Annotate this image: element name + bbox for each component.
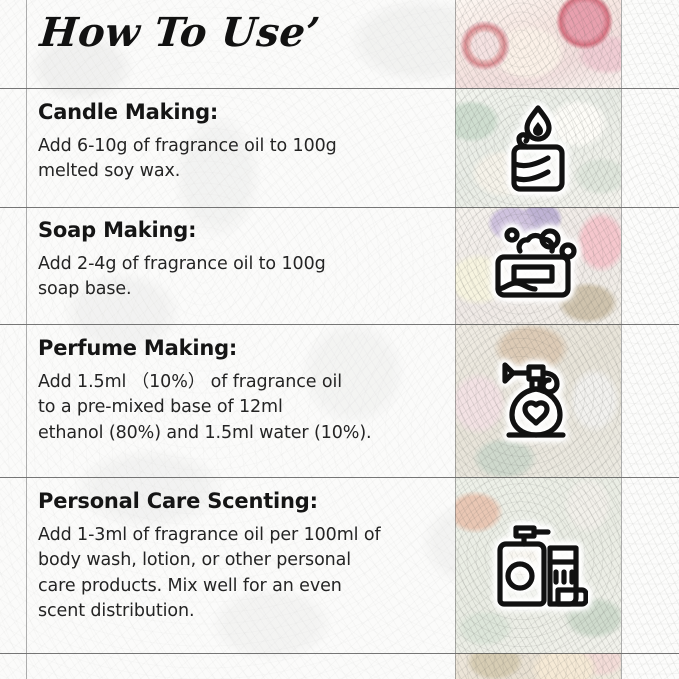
- section-body-soap-making: Add 2-4g of fragrance oil to 100g soap b…: [38, 252, 438, 302]
- section-soap-making: Soap Making: Add 2-4g of fragrance oil t…: [38, 218, 438, 303]
- infographic-page: How To Use’ Candle Making: Add 6-10g of …: [0, 0, 679, 679]
- floral-photo-column: [455, 0, 621, 679]
- section-body-candle-making: Add 6-10g of fragrance oil to 100g melte…: [38, 134, 438, 184]
- photo-purple-berries-cream-flower: [455, 207, 621, 324]
- photo-botanical-book-roses: [455, 653, 621, 679]
- section-personal-care-scenting: Personal Care Scenting: Add 1-3ml of fra…: [38, 489, 438, 624]
- section-heading-personal-care-scenting: Personal Care Scenting:: [38, 489, 438, 514]
- photo-magnolia-leaves: [455, 477, 621, 653]
- section-body-personal-care-scenting: Add 1-3ml of fragrance oil per 100ml of …: [38, 523, 438, 624]
- photo-roses-and-dragonfly: [455, 0, 621, 88]
- photo-green-foliage-blossom: [455, 88, 621, 207]
- section-heading-candle-making: Candle Making:: [38, 100, 438, 125]
- photo-pale-blossom-seedpods: [455, 324, 621, 477]
- left-margin-rule: [26, 0, 27, 679]
- divider-after-personal-care: [0, 653, 679, 654]
- section-heading-soap-making: Soap Making:: [38, 218, 438, 243]
- right-sketch-margin: [621, 0, 679, 679]
- page-title: How To Use’: [38, 11, 322, 56]
- section-candle-making: Candle Making: Add 6-10g of fragrance oi…: [38, 100, 438, 185]
- section-heading-perfume-making: Perfume Making:: [38, 336, 438, 361]
- section-perfume-making: Perfume Making: Add 1.5ml （10%） of fragr…: [38, 336, 438, 446]
- right-margin-rule: [621, 0, 622, 679]
- photo-column-rule: [455, 0, 456, 679]
- divider-after-candle: [0, 207, 679, 208]
- divider-after-title: [0, 88, 679, 89]
- divider-after-soap: [0, 324, 679, 325]
- section-body-perfume-making: Add 1.5ml （10%） of fragrance oil to a pr…: [38, 370, 438, 446]
- divider-after-perfume: [0, 477, 679, 478]
